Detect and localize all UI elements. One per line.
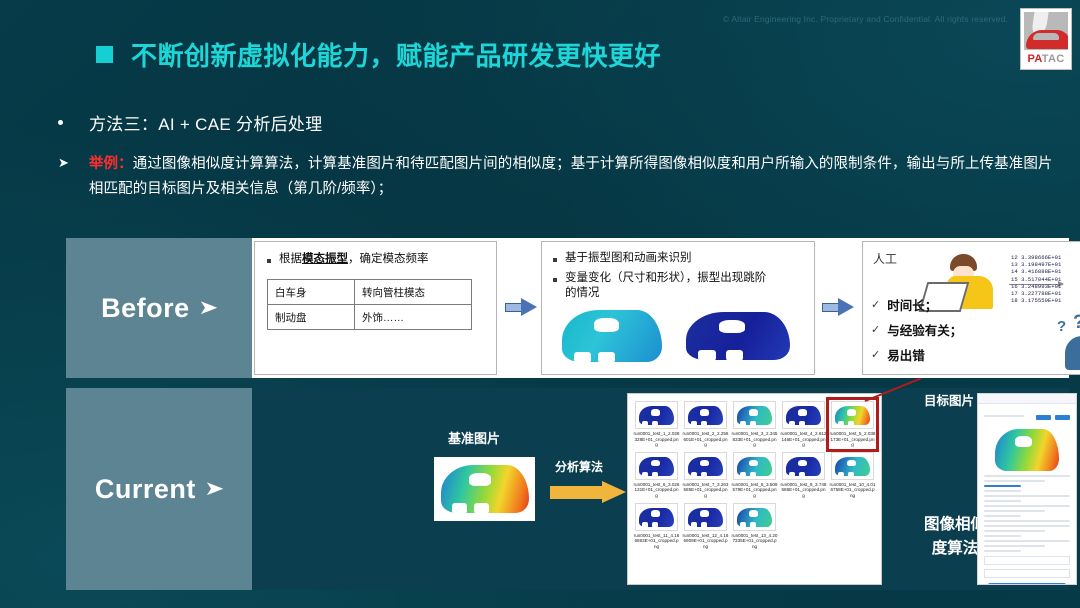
before-label-text: Before [101, 293, 190, 324]
thumbnail-caption: run0001_test_4_2.612146E+01_cropped.png [781, 431, 827, 448]
thumbnail-grid-inner: run0001_test_1_2.028328E+01_cropped.pngr… [632, 399, 877, 551]
before-panel-label: Before ➤ [66, 238, 252, 378]
bullet-item-2-lead: 举例： [89, 156, 133, 172]
modal-table: 白车身 转向管柱模态 制动盘 外饰…… [267, 279, 472, 330]
app-preview-car-image [995, 429, 1060, 471]
base-image-thumbnail [434, 457, 535, 521]
thumbnail-item[interactable]: run0001_test_13_4.207335E+01_cropped.png [730, 501, 779, 552]
thumbnail-item[interactable]: run0001_test_8_3.509579E+01_cropped.png [730, 450, 779, 501]
check-icon: ✓ [871, 323, 880, 336]
current-panel-label: Current ➤ [66, 388, 252, 590]
thumbnail-caption: run0001_test_6_3.026131E+01_cropped.png [634, 482, 680, 499]
bullet-item-2-text: 举例：通过图像相似度计算算法，计算基准图片和待匹配图片间的相似度；基于计算所得图… [89, 152, 1058, 202]
thumbnail-item[interactable]: run0001_test_4_2.612146E+01_cropped.png [779, 399, 828, 450]
thumbnail-item[interactable]: run0001_test_9_3.748686E+01_cropped.png [779, 450, 828, 501]
manual-drawbacks-list: ✓时间长； ✓与经验有关； ✓易出错 [871, 295, 962, 370]
before-card-identify-bullet-2-text: 变量变化（尺寸和形状），振型出现跳阶的情况 [565, 271, 770, 301]
thumbnail-item[interactable]: run0001_test_6_3.026131E+01_cropped.png [632, 450, 681, 501]
thumbnail-caption: run0001_test_12_4.166909E+01_cropped.png [683, 533, 729, 550]
title-text: 不断创新虚拟化能力，赋能产品研发更快更好 [131, 36, 661, 73]
thumbnail-selected[interactable]: run0001_test_5_2.038173E+01_cropped.png [828, 399, 877, 450]
thumbnail-caption: run0001_test_7_3.263585E+01_cropped.png [683, 482, 729, 499]
blue-arrow-icon [505, 298, 537, 317]
thumbnail-caption: run0001_test_5_2.038173E+01_cropped.png [830, 431, 876, 448]
car-model-thumbnail-image [831, 452, 874, 480]
thumbnail-caption: run0001_test_13_4.207335E+01_cropped.png [732, 533, 778, 550]
yellow-arrow-icon [550, 481, 626, 503]
before-card-manual: 人工 12 3.398666E+01 13 3.198497E+01 14 3.… [862, 241, 1080, 375]
check-icon: ✓ [871, 348, 880, 361]
logo-wordmark: PATAC [1024, 50, 1068, 68]
table-cell: 外饰…… [355, 305, 472, 330]
car-model-thumbnail-image [782, 452, 825, 480]
algorithm-label: 分析算法 [555, 458, 603, 475]
car-model-thumbnail-image [635, 401, 678, 429]
before-card-modal: 根据模态振型，确定模态频率 白车身 转向管柱模态 制动盘 外饰…… [254, 241, 497, 375]
flow-arrow-1 [505, 298, 537, 317]
before-card-identify-bullet-2: 变量变化（尺寸和形状），振型出现跳阶的情况 [553, 271, 803, 301]
mode-shape-car-images [554, 304, 804, 368]
list-item: ✓与经验有关； [871, 320, 962, 339]
form-button-secondary[interactable] [1055, 415, 1070, 420]
title-bullet-square-icon [96, 46, 113, 63]
thumbnail-caption: run0001_test_1_2.028328E+01_cropped.png [634, 431, 680, 448]
before-card-identify-bullet-1-text: 基于振型图和动画来识别 [565, 251, 692, 266]
check-icon: ✓ [871, 298, 880, 311]
bullet-item-1: 方法三：AI + CAE 分析后处理 [58, 110, 323, 135]
list-item: ✓时间长； [871, 295, 962, 314]
target-callout-line [865, 378, 921, 402]
car-model-thumbnail-image [733, 503, 776, 531]
table-row: 制动盘 外饰…… [268, 305, 472, 330]
base-image-label: 基准图片 [448, 428, 500, 447]
car-model-blue [686, 312, 790, 360]
current-label-text: Current [95, 474, 196, 505]
thumbnail-caption: run0001_test_9_3.748686E+01_cropped.png [781, 482, 827, 499]
car-model-teal [562, 310, 662, 362]
logo-car-shape [1026, 30, 1068, 49]
thumbnail-caption: run0001_test_8_3.509579E+01_cropped.png [732, 482, 778, 499]
car-model-thumbnail-image [635, 503, 678, 531]
before-panel-content: 根据模态振型，确定模态频率 白车身 转向管柱模态 制动盘 外饰…… [252, 238, 1069, 378]
square-bullet-icon [553, 258, 557, 262]
blue-arrow-icon [822, 298, 854, 317]
form-submit-button[interactable] [988, 583, 1066, 585]
thumbnail-caption: run0001_test_11_4.166863E+01_cropped.png [634, 533, 680, 550]
before-card-modal-bullet: 根据模态振型，确定模态频率 [267, 252, 484, 267]
square-bullet-icon [267, 259, 271, 263]
car-model-thumbnail-image [733, 401, 776, 429]
bullet-arrow-icon: ➤ [58, 153, 69, 173]
target-image-label: 目标图片 [924, 390, 974, 409]
page-title: 不断创新虚拟化能力，赋能产品研发更快更好 [96, 36, 661, 73]
thumbnail-caption: run0001_test_3_2.345833E+01_cropped.png [732, 431, 778, 448]
logo-text-pa: PA [1028, 53, 1042, 65]
result-thumbnail-grid[interactable]: run0001_test_1_2.028328E+01_cropped.pngr… [627, 393, 882, 585]
thumbnail-item[interactable]: run0001_test_2_2.256601E+01_cropped.png [681, 399, 730, 450]
chevron-right-icon: ➤ [204, 479, 225, 499]
patac-logo: PATAC [1020, 8, 1072, 70]
before-card-identify: 基于振型图和动画来识别 变量变化（尺寸和形状），振型出现跳阶的情况 [541, 241, 815, 375]
flow-arrow-2 [822, 298, 854, 317]
thumbnail-item[interactable]: run0001_test_7_3.263585E+01_cropped.png [681, 450, 730, 501]
thumbnail-item[interactable]: run0001_test_3_2.345833E+01_cropped.png [730, 399, 779, 450]
copyright-notice: © Altair Engineering Inc. Proprietary an… [723, 14, 1008, 24]
car-model-thumbnail-image [635, 452, 678, 480]
bullet-dot-icon [58, 120, 63, 125]
form-input-field[interactable] [984, 556, 1070, 565]
current-panel: Current ➤ 基准图片 分析算法 run0001_test_1_2.028… [66, 388, 1069, 590]
form-button-primary[interactable] [1036, 415, 1051, 420]
slide-canvas: © Altair Engineering Inc. Proprietary an… [0, 0, 1080, 608]
bullet-item-2-body: 通过图像相似度计算算法，计算基准图片和待匹配图片间的相似度；基于计算所得图像相似… [89, 156, 1053, 197]
logo-text-tac: TAC [1042, 53, 1065, 65]
thumbnail-caption: run0001_test_10_4.016758E+01_cropped.png [830, 482, 876, 499]
bullet-item-2: ➤ 举例：通过图像相似度计算算法，计算基准图片和待匹配图片间的相似度；基于计算所… [58, 152, 1058, 202]
confused-head-icon: ? ? ? [1055, 312, 1080, 370]
thumbnail-item[interactable]: run0001_test_12_4.166909E+01_cropped.png [681, 501, 730, 552]
chevron-right-icon: ➤ [198, 298, 219, 318]
thumbnail-item[interactable]: run0001_test_11_4.166863E+01_cropped.png [632, 501, 681, 552]
before-card-identify-bullet-1: 基于振型图和动画来识别 [553, 251, 803, 266]
car-model-thumbnail-image [782, 401, 825, 429]
before-panel: Before ➤ 根据模态振型，确定模态频率 白车身 转向管柱模态 制动盘 外饰 [66, 238, 1069, 378]
frequency-values-list: 12 3.398666E+01 13 3.198497E+01 14 3.416… [1011, 254, 1061, 304]
car-model-thumbnail-image [733, 452, 776, 480]
car-model-rainbow [441, 465, 529, 513]
square-bullet-icon [553, 278, 557, 282]
table-cell: 转向管柱模态 [355, 280, 472, 305]
thumbnail-caption: run0001_test_2_2.256601E+01_cropped.png [683, 431, 729, 448]
table-cell: 制动盘 [268, 305, 355, 330]
app-screenshot-form[interactable] [977, 393, 1077, 585]
table-cell: 白车身 [268, 280, 355, 305]
current-panel-content: 基准图片 分析算法 run0001_test_1_2.028328E+01_cr… [252, 388, 1069, 590]
list-item: ✓易出错 [871, 345, 962, 364]
bullet-item-1-text: 方法三：AI + CAE 分析后处理 [89, 110, 323, 135]
before-card-modal-bullet-text: 根据模态振型，确定模态频率 [279, 252, 429, 267]
table-row: 白车身 转向管柱模态 [268, 280, 472, 305]
car-model-thumbnail-image [684, 452, 727, 480]
car-model-thumbnail-image [831, 401, 874, 429]
logo-artwork [1024, 12, 1068, 50]
thumbnail-item[interactable]: run0001_test_1_2.028328E+01_cropped.png [632, 399, 681, 450]
car-model-thumbnail-image [684, 401, 727, 429]
form-input-field-2[interactable] [984, 569, 1070, 578]
thumbnail-item[interactable]: run0001_test_10_4.016758E+01_cropped.png [828, 450, 877, 501]
car-model-thumbnail-image [684, 503, 727, 531]
